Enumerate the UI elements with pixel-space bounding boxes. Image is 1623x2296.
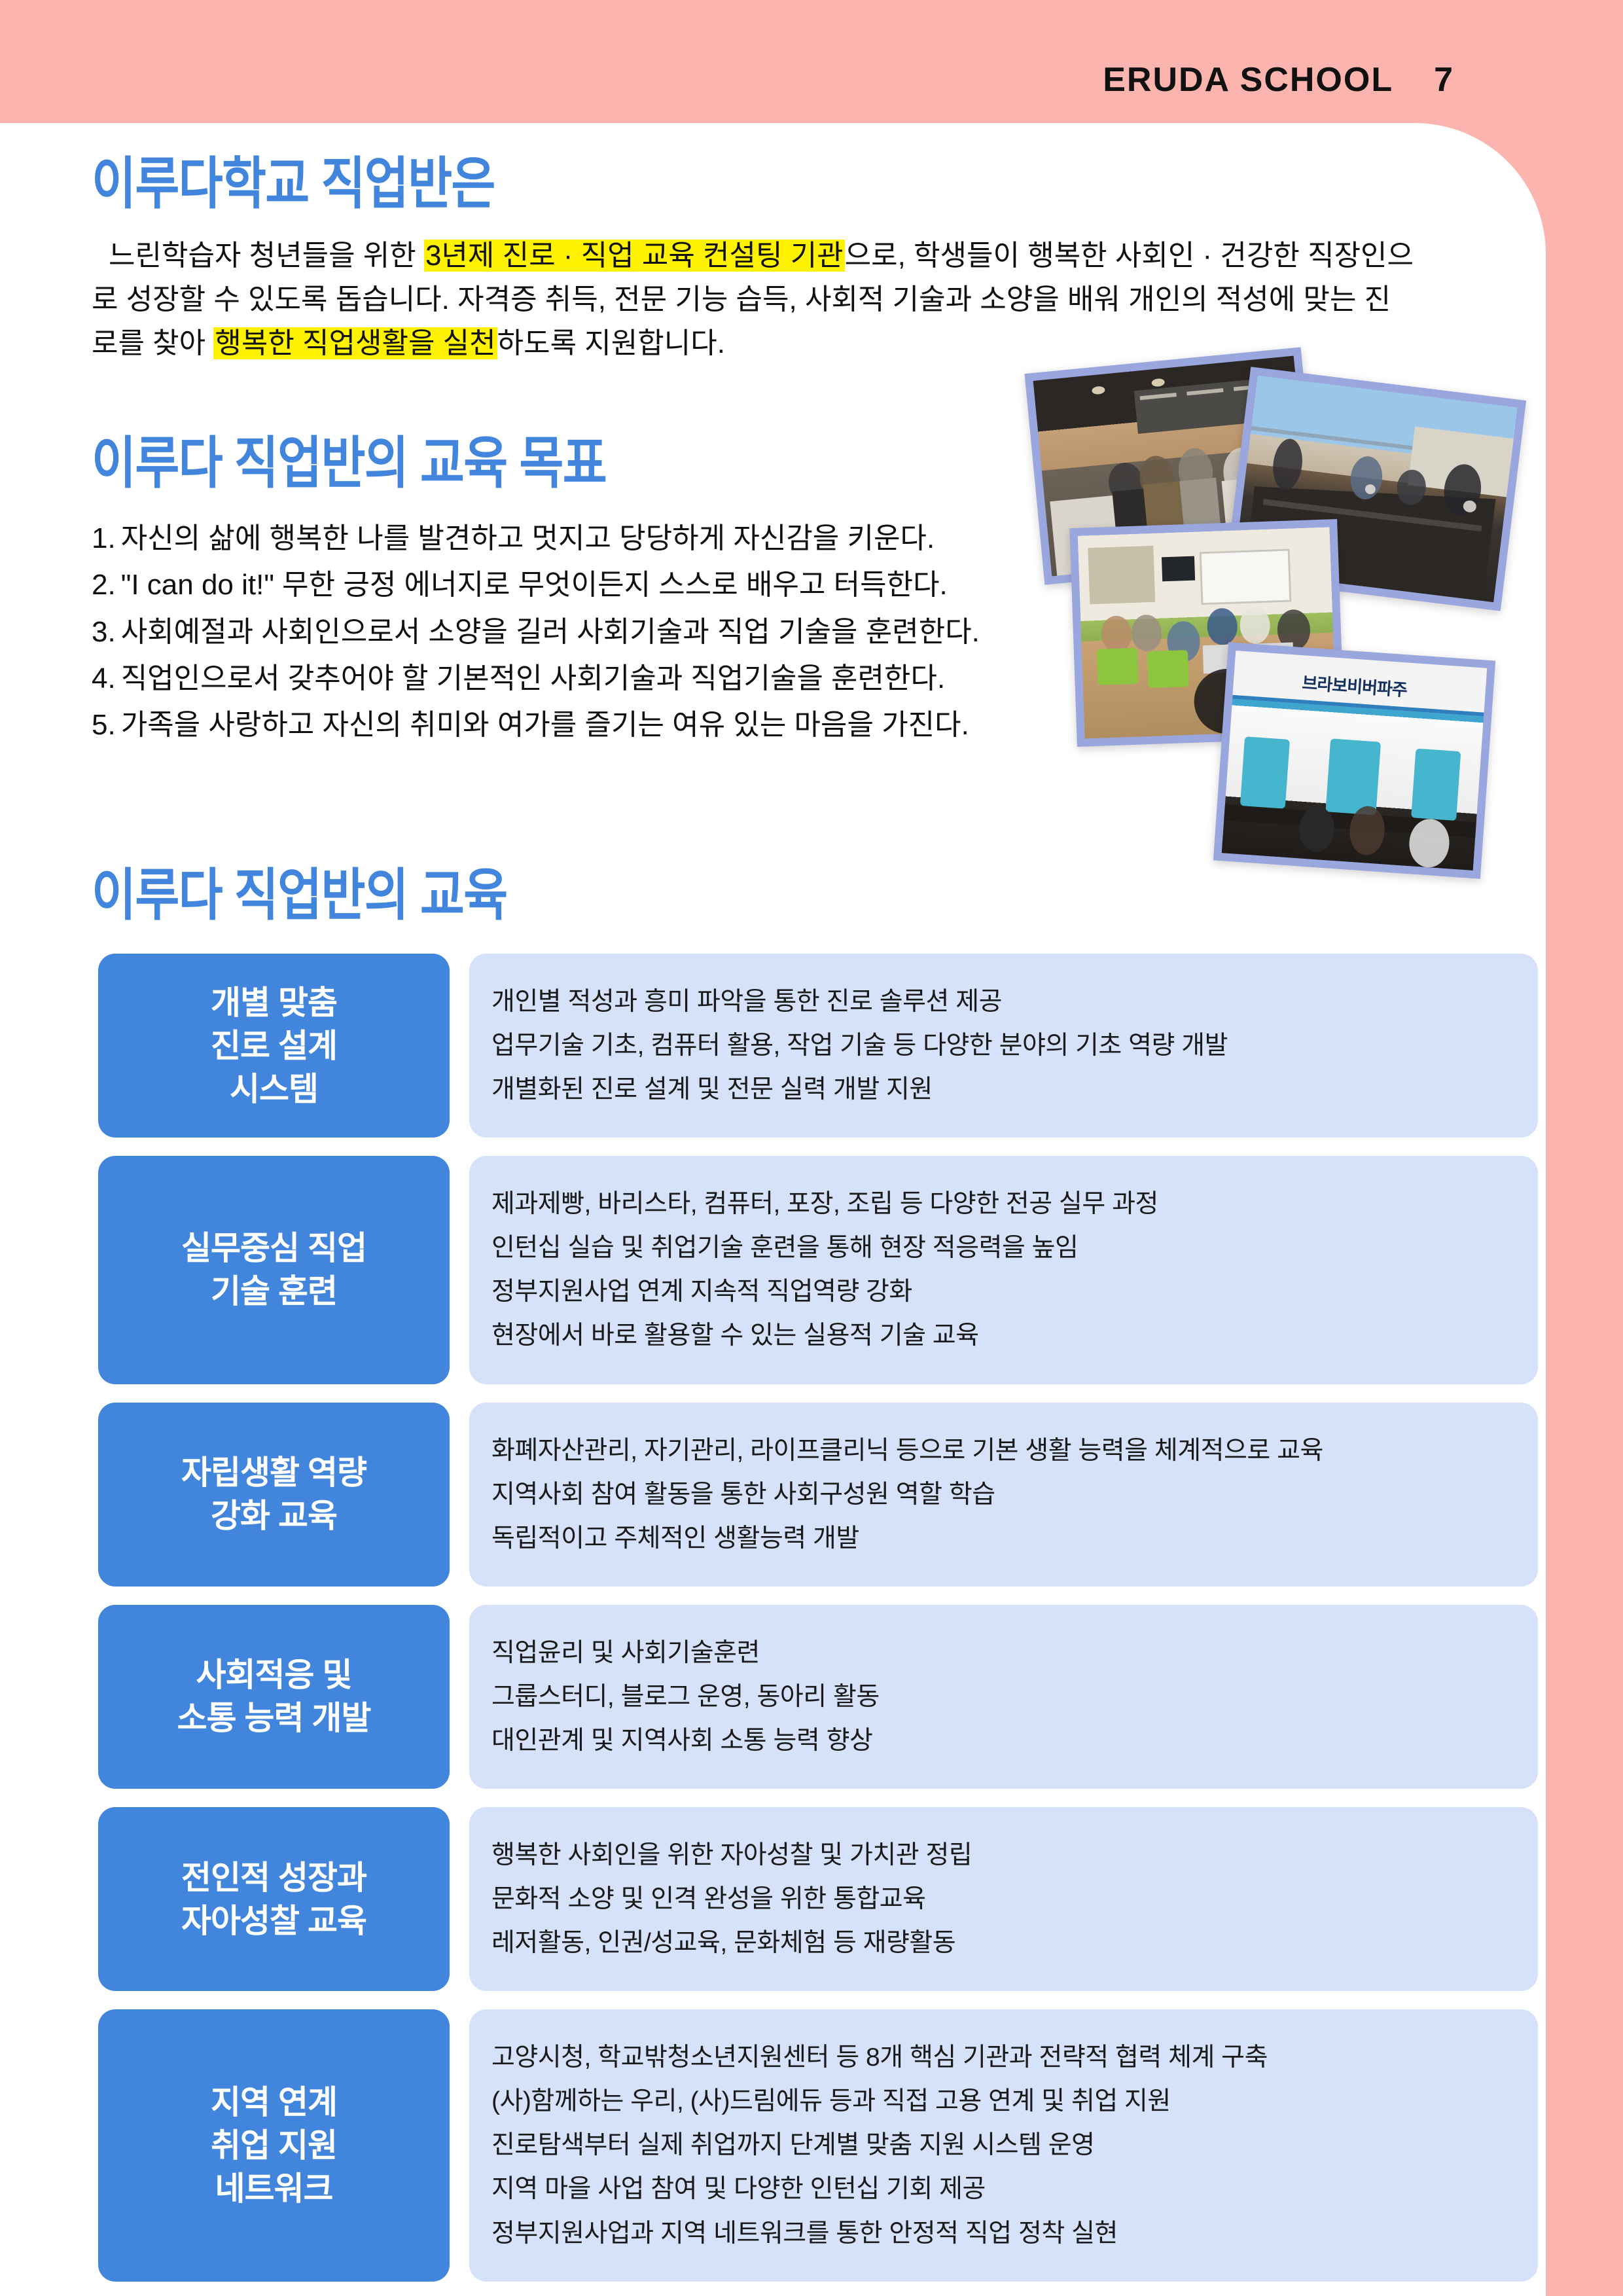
- goal-number: 2.: [92, 569, 116, 601]
- intro-highlight-2: 행복한 직업생활을 실천: [213, 327, 497, 359]
- education-detail-item: 진로탐색부터 실제 취업까지 단계별 맞춤 지원 시스템 운영: [491, 2123, 1516, 2167]
- education-row-label: 전인적 성장과 자아성찰 교육: [98, 1807, 450, 1991]
- section-education-heading-wrap: 이루다 직업반의 교육: [92, 867, 575, 924]
- education-detail-item: 개인별 적성과 흥미 파악을 통한 진로 솔루션 제공: [491, 980, 1516, 1024]
- goal-item: 2."I can do it!" 무한 긍정 에너지로 무엇이든지 스스로 배우…: [92, 562, 1152, 608]
- education-detail-item: 화폐자산관리, 자기관리, 라이프클리닉 등으로 기본 생활 능력을 체계적으로…: [491, 1429, 1516, 1473]
- education-row-content: 화폐자산관리, 자기관리, 라이프클리닉 등으로 기본 생활 능력을 체계적으로…: [469, 1403, 1538, 1587]
- education-detail-item: 인턴십 실습 및 취업기술 훈련을 통해 현장 적응력을 높임: [491, 1226, 1516, 1270]
- goals-list: 1.자신의 삶에 행복한 나를 발견하고 멋지고 당당하게 자신감을 키운다. …: [92, 515, 1152, 748]
- education-detail-item: 개별화된 진로 설계 및 전문 실력 개발 지원: [491, 1067, 1516, 1111]
- goal-number: 3.: [92, 616, 116, 648]
- page-number: 7: [1434, 60, 1453, 99]
- education-label-line: 기술 훈련: [211, 1270, 337, 1313]
- brochure-page: ERUDA SCHOOL 7: [0, 0, 1623, 2296]
- goal-number: 1.: [92, 522, 116, 554]
- goal-text: 자신의 삶에 행복한 나를 발견하고 멋지고 당당하게 자신감을 키운다.: [121, 522, 935, 554]
- goal-number: 5.: [92, 709, 116, 741]
- education-row-label: 사회적응 및 소통 능력 개발: [98, 1605, 450, 1789]
- education-detail-item: 레저활동, 인권/성교육, 문화체험 등 재량활동: [491, 1921, 1516, 1965]
- education-detail-item: 고양시청, 학교밖청소년지원센터 등 8개 핵심 기관과 전략적 협력 체계 구…: [491, 2036, 1516, 2079]
- goal-item: 1.자신의 삶에 행복한 나를 발견하고 멋지고 당당하게 자신감을 키운다.: [92, 515, 1152, 562]
- education-detail-item: 문화적 소양 및 인격 완성을 위한 통합교육: [491, 1877, 1516, 1921]
- intro-highlight-1: 3년제 진로 · 직업 교육 컨설팅 기관: [424, 240, 845, 272]
- goal-text: 가족을 사랑하고 자신의 취미와 여가를 즐기는 여유 있는 마음을 가진다.: [121, 709, 969, 741]
- education-label-line: 실무중심 직업: [181, 1227, 366, 1270]
- section-goals: 이루다 직업반의 교육 목표 1.자신의 삶에 행복한 나를 발견하고 멋지고 …: [92, 435, 1152, 748]
- education-detail-item: 행복한 사회인을 위한 자아성찰 및 가치관 정립: [491, 1833, 1516, 1877]
- education-label-line: 지역 연계: [211, 2081, 337, 2124]
- education-label-line: 시스템: [230, 1067, 318, 1111]
- education-label-line: 진로 설계: [211, 1024, 337, 1067]
- goal-item: 4.직업인으로서 갖추어야 할 기본적인 사회기술과 직업기술을 훈련한다.: [92, 655, 1152, 702]
- goal-item: 3.사회예절과 사회인으로서 소양을 길러 사회기술과 직업 기술을 훈련한다.: [92, 609, 1152, 655]
- education-label-line: 강화 교육: [211, 1494, 337, 1537]
- table-row: 전인적 성장과 자아성찰 교육 행복한 사회인을 위한 자아성찰 및 가치관 정…: [98, 1807, 1538, 1991]
- education-label-line: 사회적응 및: [196, 1653, 352, 1696]
- goals-heading: 이루다 직업반의 교육 목표: [92, 435, 1003, 492]
- section-intro: 이루다학교 직업반은 느린학습자 청년들을 위한 3년제 진로 · 직업 교육 …: [92, 156, 1433, 395]
- table-row: 개별 맞춤 진로 설계 시스템 개인별 적성과 흥미 파악을 통한 진로 솔루션…: [98, 954, 1538, 1138]
- education-label-line: 개별 맞춤: [211, 981, 337, 1024]
- education-row-content: 제과제빵, 바리스타, 컴퓨터, 포장, 조립 등 다양한 전공 실무 과정 인…: [469, 1156, 1538, 1384]
- education-row-label: 실무중심 직업 기술 훈련: [98, 1156, 450, 1384]
- education-label-line: 자아성찰 교육: [181, 1899, 366, 1943]
- table-row: 사회적응 및 소통 능력 개발 직업윤리 및 사회기술훈련 그룹스터디, 블로그…: [98, 1605, 1538, 1789]
- intro-paragraph: 느린학습자 청년들을 위한 3년제 진로 · 직업 교육 컨설팅 기관으로, 학…: [92, 234, 1414, 366]
- education-label-line: 네트워크: [215, 2167, 333, 2210]
- education-detail-item: 제과제빵, 바리스타, 컴퓨터, 포장, 조립 등 다양한 전공 실무 과정: [491, 1182, 1516, 1226]
- education-row-content: 직업윤리 및 사회기술훈련 그룹스터디, 블로그 운영, 동아리 활동 대인관계…: [469, 1605, 1538, 1789]
- education-detail-item: 현장에서 바로 활용할 수 있는 실용적 기술 교육: [491, 1314, 1516, 1357]
- education-row-content: 고양시청, 학교밖청소년지원센터 등 8개 핵심 기관과 전략적 협력 체계 구…: [469, 2009, 1538, 2281]
- goal-text: "I can do it!" 무한 긍정 에너지로 무엇이든지 스스로 배우고 …: [121, 569, 948, 601]
- goal-number: 4.: [92, 662, 116, 694]
- education-detail-item: 직업윤리 및 사회기술훈련: [491, 1631, 1516, 1675]
- education-label-line: 소통 능력 개발: [177, 1696, 371, 1740]
- education-detail-item: 정부지원사업 연계 지속적 직업역량 강화: [491, 1270, 1516, 1314]
- education-label-line: 취업 지원: [211, 2124, 337, 2167]
- intro-heading: 이루다학교 직업반은: [92, 156, 1245, 212]
- table-row: 지역 연계 취업 지원 네트워크 고양시청, 학교밖청소년지원센터 등 8개 핵…: [98, 2009, 1538, 2281]
- education-detail-item: 지역사회 참여 활동을 통한 사회구성원 역할 학습: [491, 1473, 1516, 1516]
- page-header: ERUDA SCHOOL 7: [1103, 60, 1453, 99]
- education-detail-item: (사)함께하는 우리, (사)드림에듀 등과 직접 고용 연계 및 취업 지원: [491, 2079, 1516, 2123]
- goal-item: 5.가족을 사랑하고 자신의 취미와 여가를 즐기는 여유 있는 마음을 가진다…: [92, 702, 1152, 748]
- goal-text: 직업인으로서 갖추어야 할 기본적인 사회기술과 직업기술을 훈련한다.: [121, 662, 946, 694]
- education-row-content: 행복한 사회인을 위한 자아성찰 및 가치관 정립 문화적 소양 및 인격 완성…: [469, 1807, 1538, 1991]
- table-row: 실무중심 직업 기술 훈련 제과제빵, 바리스타, 컴퓨터, 포장, 조립 등 …: [98, 1156, 1538, 1384]
- education-label-line: 전인적 성장과: [181, 1856, 366, 1899]
- brand-name: ERUDA SCHOOL: [1103, 60, 1393, 99]
- education-row-label: 자립생활 역량 강화 교육: [98, 1403, 450, 1587]
- education-label-line: 자립생활 역량: [181, 1451, 366, 1494]
- education-detail-item: 독립적이고 주체적인 생활능력 개발: [491, 1516, 1516, 1560]
- intro-text-3: 하도록 지원합니다.: [497, 327, 725, 359]
- education-detail-item: 업무기술 기초, 컴퓨터 활용, 작업 기술 등 다양한 분야의 기초 역량 개…: [491, 1024, 1516, 1067]
- education-detail-item: 지역 마을 사업 참여 및 다양한 인턴십 기회 제공: [491, 2167, 1516, 2211]
- education-heading: 이루다 직업반의 교육: [92, 867, 507, 924]
- education-detail-item: 정부지원사업과 지역 네트워크를 통한 안정적 직업 정착 실현: [491, 2212, 1516, 2255]
- education-detail-item: 그룹스터디, 블로그 운영, 동아리 활동: [491, 1675, 1516, 1719]
- education-table: 개별 맞춤 진로 설계 시스템 개인별 적성과 흥미 파악을 통한 진로 솔루션…: [98, 954, 1538, 2296]
- education-row-content: 개인별 적성과 흥미 파악을 통한 진로 솔루션 제공 업무기술 기초, 컴퓨터…: [469, 954, 1538, 1138]
- goal-text: 사회예절과 사회인으로서 소양을 길러 사회기술과 직업 기술을 훈련한다.: [121, 616, 980, 648]
- education-row-label: 개별 맞춤 진로 설계 시스템: [98, 954, 450, 1138]
- job-fair-booth-photo: 브라보비버파주: [1213, 642, 1495, 879]
- education-row-label: 지역 연계 취업 지원 네트워크: [98, 2009, 450, 2281]
- education-detail-item: 대인관계 및 지역사회 소통 능력 향상: [491, 1719, 1516, 1763]
- table-row: 자립생활 역량 강화 교육 화폐자산관리, 자기관리, 라이프클리닉 등으로 기…: [98, 1403, 1538, 1587]
- intro-text-1: 느린학습자 청년들을 위한: [109, 240, 424, 272]
